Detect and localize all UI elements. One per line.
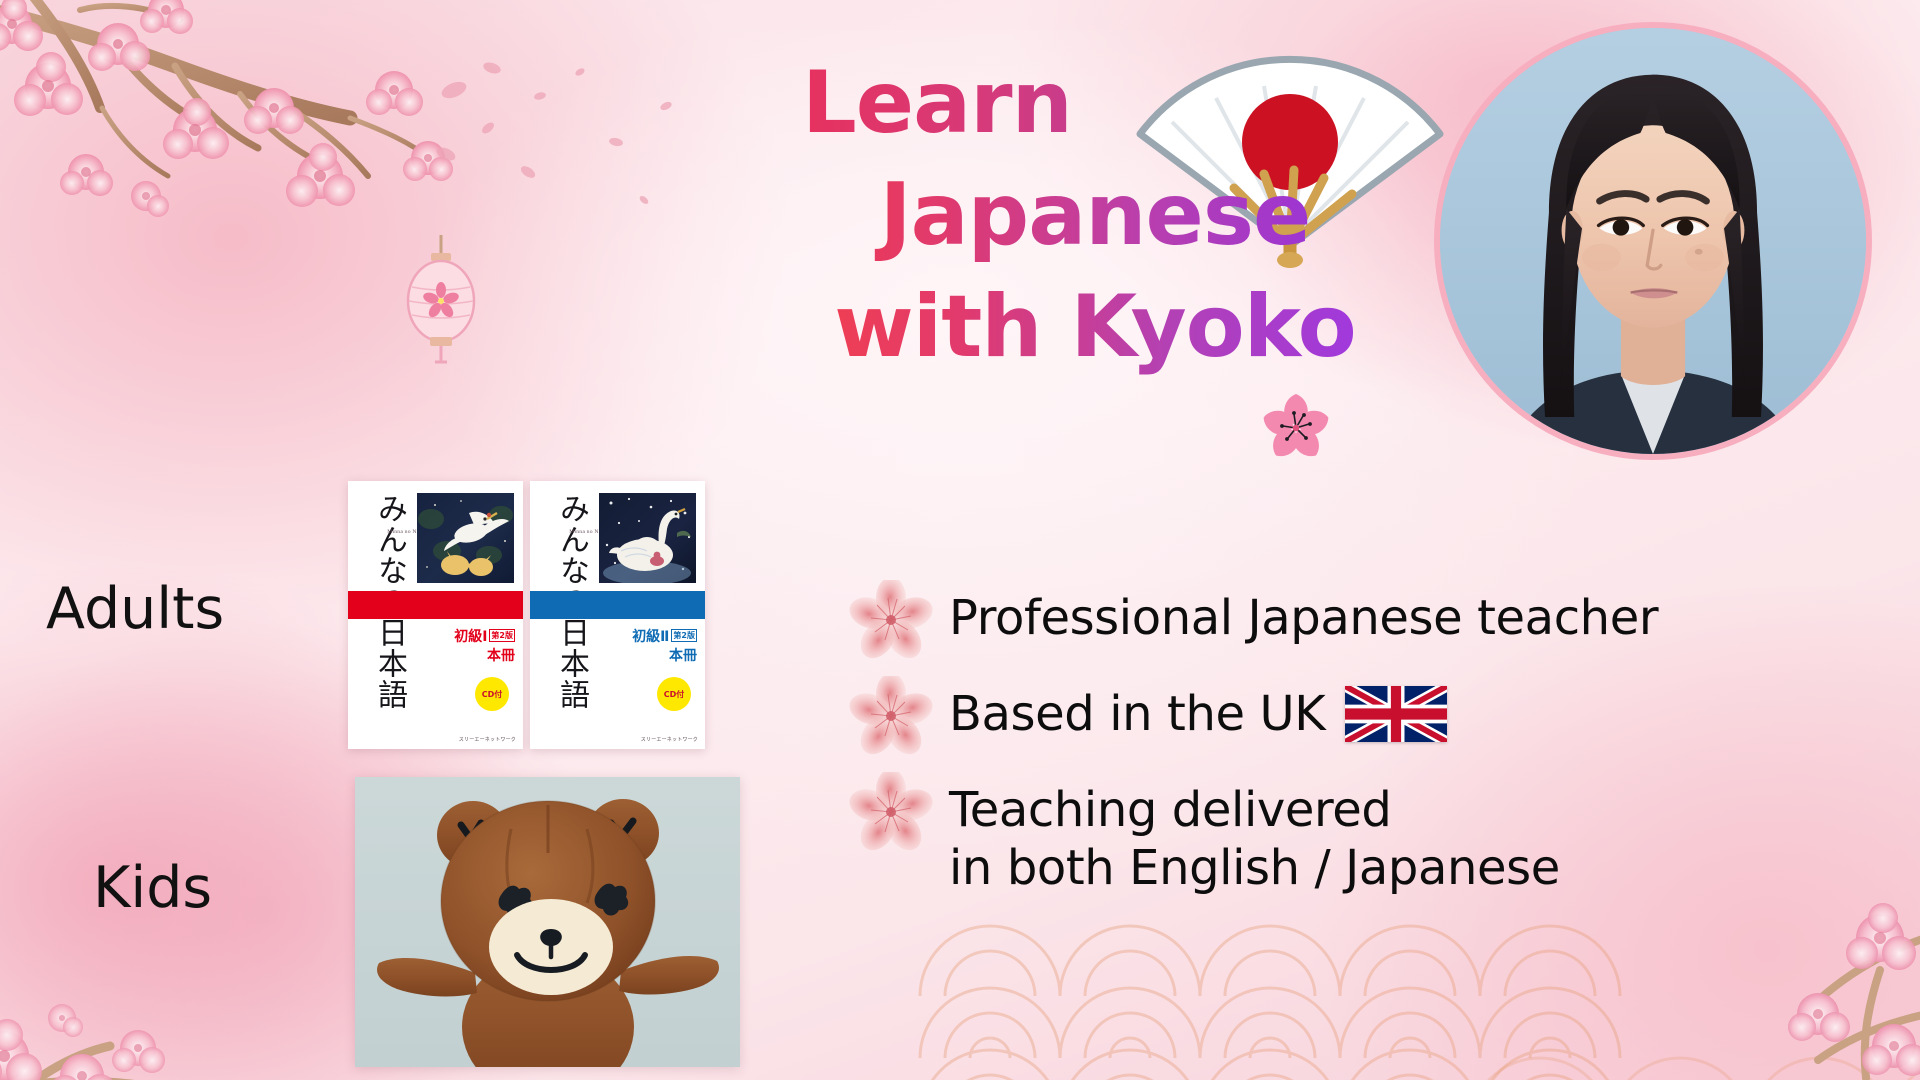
book1-volume: 本冊: [454, 649, 515, 663]
headline-block: Learn Japanese with Kyoko: [780, 48, 1410, 383]
book2-cover-art: [599, 493, 696, 583]
headline-line-japanese: Japanese: [780, 160, 1410, 272]
teddy-bear-photo: [355, 777, 740, 1067]
book1-cover-art: [417, 493, 514, 583]
book1-publisher: スリーエーネットワーク: [459, 736, 516, 743]
textbook-minna-no-nihongo-1: みんなの日本語 Minna no Nihongo: [348, 481, 523, 749]
uk-flag-icon: [1345, 686, 1447, 742]
cherry-blossom-bullet-icon: [845, 772, 937, 852]
headline-line-learn: Learn: [780, 48, 1410, 160]
book1-color-band: [348, 591, 523, 619]
book1-cd-badge: CD付: [475, 677, 509, 711]
book2-level: 初級Ⅱ: [632, 629, 669, 645]
bullet-item-1: Based in the UK: [845, 684, 1885, 756]
book1-edition: 第2版: [489, 629, 515, 642]
cherry-blossom-bullet-icon: [845, 676, 937, 756]
book2-volume: 本冊: [632, 649, 697, 663]
bullet-row-inline-1: Based in the UK: [949, 684, 1447, 744]
book2-edition: 第2版: [671, 629, 697, 642]
headline-line-with-kyoko: with Kyoko: [780, 272, 1410, 384]
textbook-minna-no-nihongo-2: みんなの日本語 Minna no Nihongo: [530, 481, 705, 749]
bullet-text-2: Teaching delivered in both English / Jap…: [949, 780, 1560, 897]
bullet-text-0: Professional Japanese teacher: [949, 588, 1658, 648]
bullet-item-2: Teaching delivered in both English / Jap…: [845, 780, 1885, 897]
cherry-blossom-bullet-icon: [845, 580, 937, 660]
book2-publisher: スリーエーネットワーク: [641, 736, 698, 743]
teacher-portrait-photo: [1434, 22, 1872, 460]
book1-level: 初級Ⅰ: [454, 629, 487, 645]
label-adults: Adults: [46, 576, 224, 642]
bullet-text-1: Based in the UK: [949, 684, 1325, 744]
book2-level-block: 初級Ⅱ第2版 本冊: [632, 628, 697, 663]
label-kids: Kids: [93, 855, 212, 921]
bullet-list: Professional Japanese teacher: [845, 588, 1885, 897]
book2-color-band: [530, 591, 705, 619]
poster-canvas: Learn Japanese with Kyoko: [0, 0, 1920, 1080]
book1-level-block: 初級Ⅰ第2版 本冊: [454, 628, 515, 663]
bullet-item-0: Professional Japanese teacher: [845, 588, 1885, 660]
book2-cd-badge: CD付: [657, 677, 691, 711]
